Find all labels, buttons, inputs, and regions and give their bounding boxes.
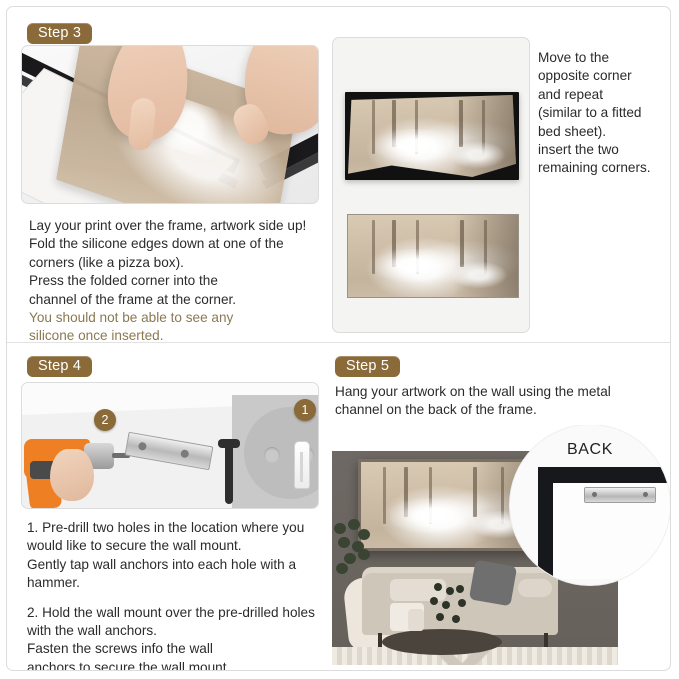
decor-vase (408, 609, 424, 631)
artwork-foliage (449, 141, 506, 169)
marker-1-badge: 1 (294, 399, 316, 421)
artwork-tree (383, 467, 386, 524)
back-of-frame-callout: BACK (510, 425, 670, 585)
step-4-illustration: 2 1 (21, 382, 319, 509)
bolster-pillow (518, 579, 552, 597)
step-3-text-block: Lay your print over the frame, artwork s… (29, 217, 317, 346)
artwork-foliage (375, 249, 453, 282)
artwork-foliage (375, 129, 452, 162)
frame-edge-top (538, 467, 670, 483)
gray-pillow (469, 560, 517, 607)
artwork-panel-finished (347, 214, 519, 298)
step-3-artwork-card (332, 37, 530, 333)
step-4-badge: Step 4 (27, 356, 92, 377)
wall-anchor-icon (294, 441, 310, 489)
step-3-side-note: Move to the opposite corner and repeat (… (538, 49, 670, 178)
step-3-badge: Step 3 (27, 23, 92, 44)
artwork-panel-loose (345, 92, 519, 180)
screw-shaft (225, 446, 233, 504)
step-3-highlight-note: You should not be able to see any silico… (29, 309, 317, 346)
back-callout-label: BACK (510, 441, 670, 459)
step-4-instruction-1: 1. Pre-drill two holes in the location w… (27, 519, 319, 593)
artwork-image-finished (348, 215, 518, 297)
pre-drilled-hole (264, 447, 280, 463)
artwork-image-loose (348, 95, 516, 177)
metal-hanging-channel (584, 487, 656, 503)
hand-holding-drill (50, 449, 94, 501)
coffee-table (382, 629, 502, 655)
step-5-illustration: BACK (332, 425, 670, 665)
step-4-text-block: 1. Pre-drill two holes in the location w… (27, 519, 319, 671)
artwork-foliage (390, 498, 473, 532)
step-3-row: Step 3 Lay your print over the frame, ar… (7, 7, 671, 341)
instruction-sheet: Step 3 Lay your print over the frame, ar… (6, 6, 671, 671)
frame-edge-left (538, 467, 553, 579)
wall-mount-bracket (125, 432, 214, 471)
marker-2-badge: 2 (94, 409, 116, 431)
step-5-instructions: Hang your artwork on the wall using the … (335, 383, 655, 420)
artwork-foliage (450, 261, 508, 289)
step-5-badge: Step 5 (335, 356, 400, 377)
step-4-instruction-2: 2. Hold the wall mount over the pre-dril… (27, 604, 319, 671)
step-3-instructions: Lay your print over the frame, artwork s… (29, 217, 317, 309)
step-3-photo (21, 45, 319, 204)
table-plant (428, 583, 470, 631)
